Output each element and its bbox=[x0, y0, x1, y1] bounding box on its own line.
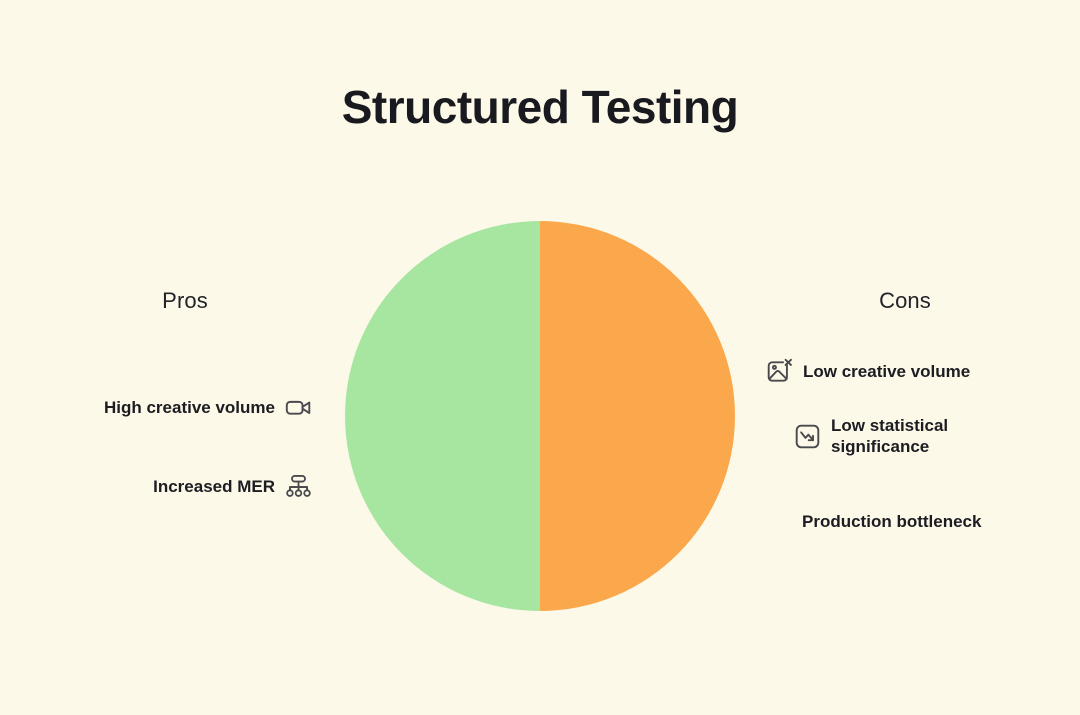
pros-item-high-creative-volume: High creative volume bbox=[104, 394, 312, 421]
pros-heading: Pros bbox=[40, 286, 330, 316]
pie-chart bbox=[345, 221, 735, 611]
slide-canvas: Structured Testing Pros High creative vo… bbox=[0, 0, 1080, 715]
pie-slice-cons bbox=[540, 221, 735, 611]
pros-item-increased-mer: Increased MER bbox=[153, 473, 312, 500]
pros-item-label: High creative volume bbox=[104, 397, 275, 418]
pie-chart-circle bbox=[345, 221, 735, 611]
cons-heading: Cons bbox=[760, 286, 1050, 316]
cons-item-production-bottleneck: Production bottleneck bbox=[802, 511, 981, 532]
trend-down-icon bbox=[794, 423, 821, 450]
hierarchy-icon bbox=[285, 473, 312, 500]
cons-item-label: Production bottleneck bbox=[802, 511, 981, 532]
cons-item-low-statistical-significance: Low statistical significance bbox=[794, 415, 948, 457]
cons-item-low-creative-volume: Low creative volume bbox=[766, 358, 970, 385]
pros-item-label: Increased MER bbox=[153, 476, 275, 497]
page-title: Structured Testing bbox=[0, 78, 1080, 136]
pie-slice-pros bbox=[345, 221, 540, 611]
cons-column: Cons Low creative volume bbox=[760, 286, 1050, 316]
cons-item-label: Low statistical significance bbox=[831, 415, 948, 457]
video-camera-icon bbox=[285, 394, 312, 421]
image-off-icon bbox=[766, 358, 793, 385]
pros-column: Pros High creative volume Increased MER bbox=[40, 286, 330, 316]
cons-item-label: Low creative volume bbox=[803, 361, 970, 382]
